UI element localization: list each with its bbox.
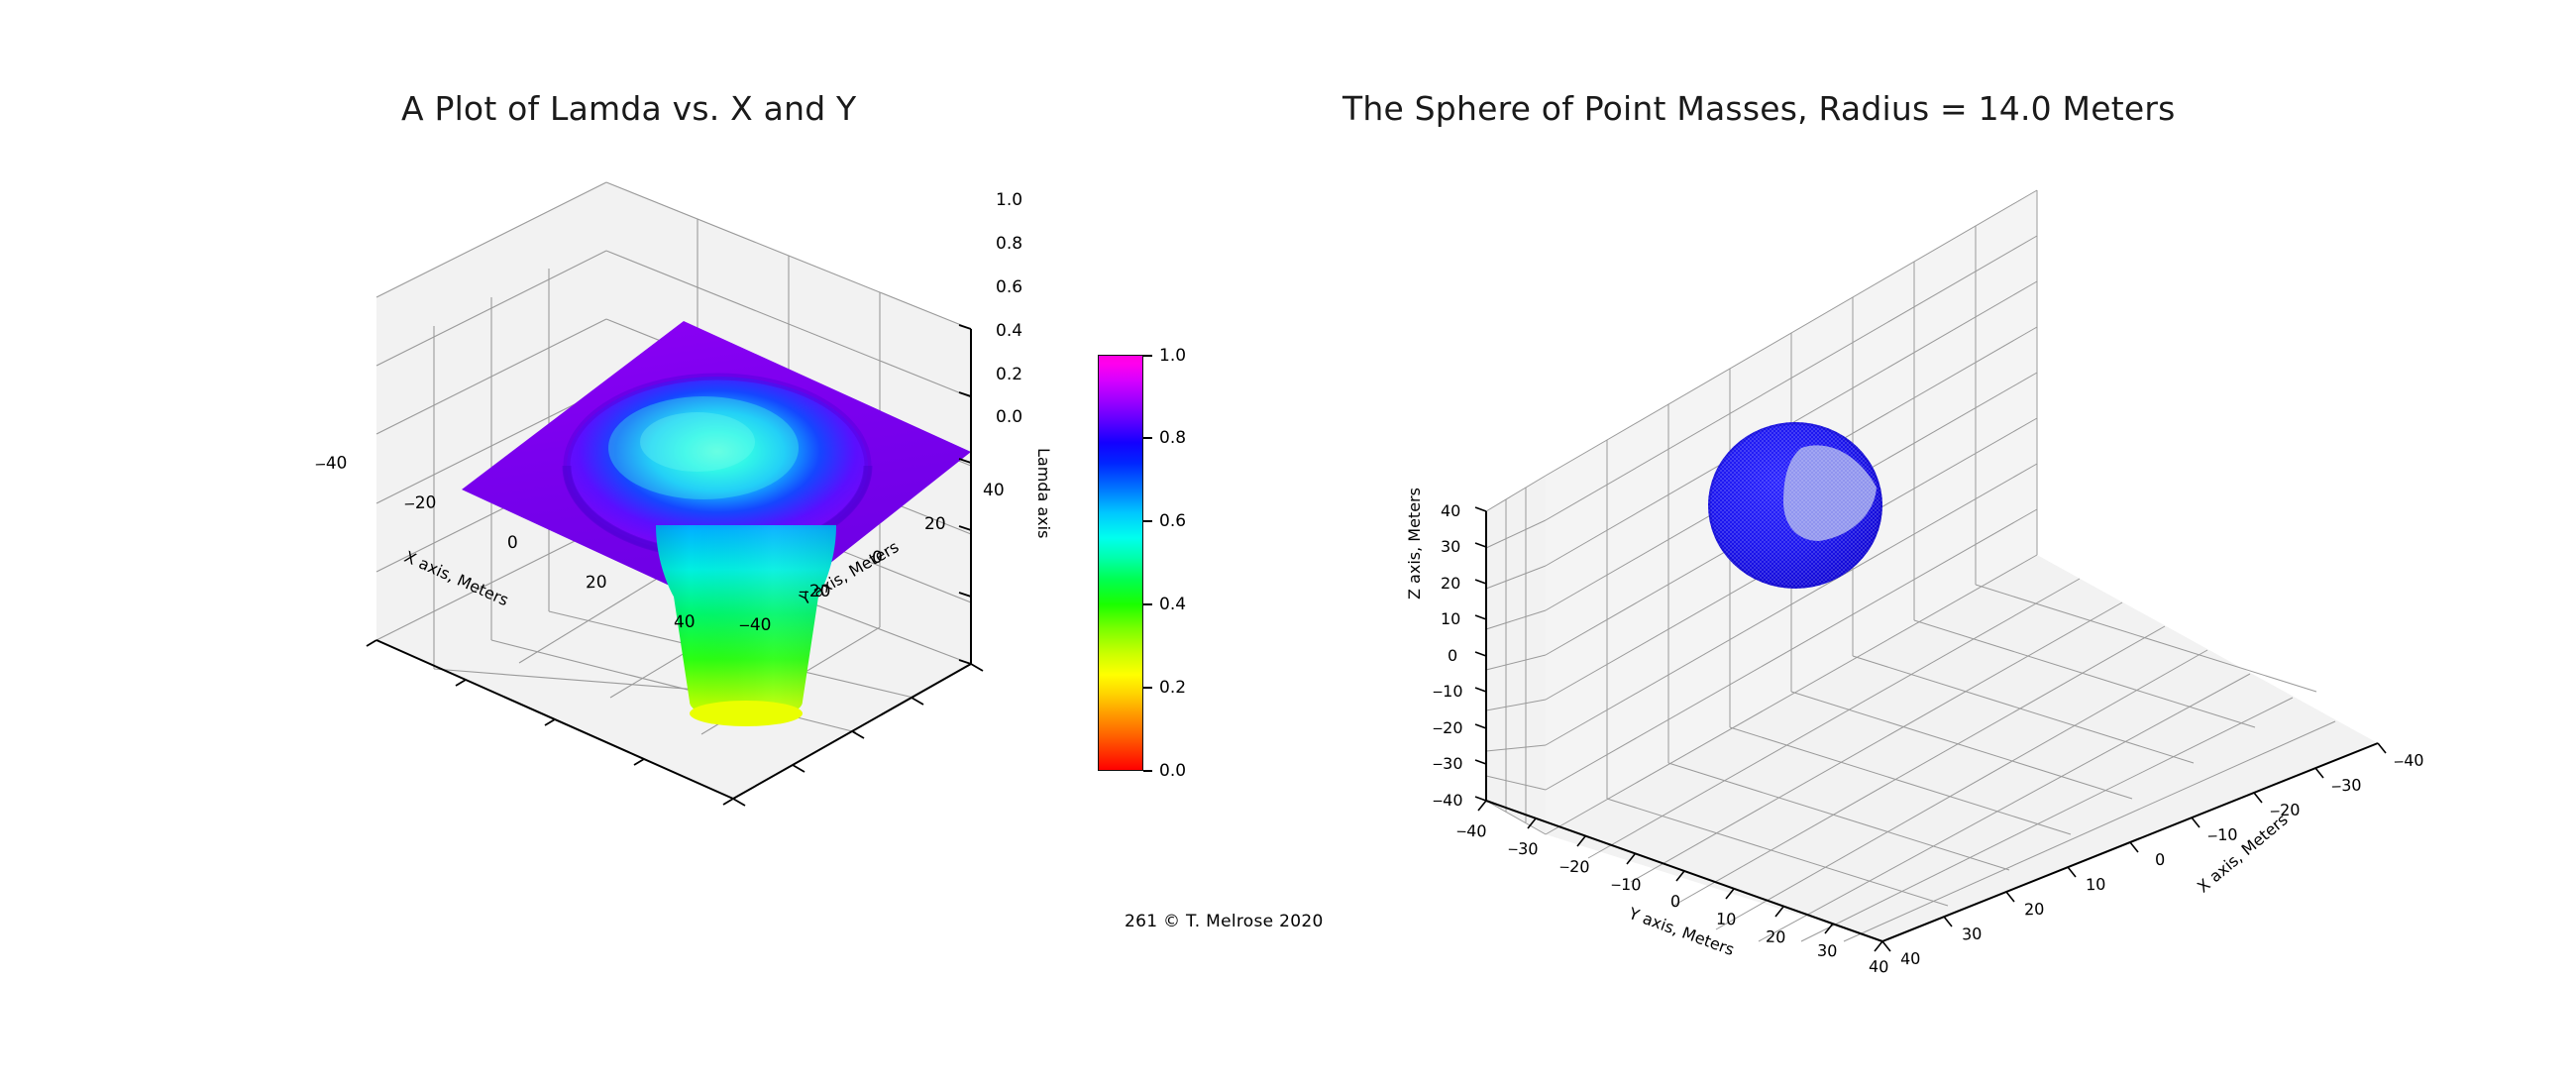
right-ztick-2: ‒20 <box>1433 718 1463 737</box>
right-ytick-0: ‒40 <box>1456 820 1487 840</box>
right-ytick-6: 20 <box>1766 927 1786 947</box>
colorbar-tick-0 <box>1143 770 1152 772</box>
footer-credit: 261 © T. Melrose 2020 <box>1125 912 1324 931</box>
right-xtick-8: ‒40 <box>2394 750 2424 770</box>
left-ztick-1: 0.2 <box>996 365 1022 384</box>
right-ztick-5: 10 <box>1441 609 1460 628</box>
right-xtick-5: ‒10 <box>2207 824 2238 844</box>
right-xtick-1: 30 <box>1962 925 1983 944</box>
left-ztick-4: 0.8 <box>996 234 1022 254</box>
right-ytick-5: 10 <box>1716 910 1737 929</box>
colorbar-label-1: 0.2 <box>1159 678 1186 698</box>
colorbar[interactable]: 0.0 0.2 0.4 0.6 0.8 1.0 <box>1098 355 1143 771</box>
left-ytick-3: 20 <box>924 514 946 534</box>
right-ytick-3: ‒10 <box>1611 874 1642 894</box>
right-xtick-2: 20 <box>2024 900 2045 920</box>
colorbar-tick-4 <box>1143 437 1152 439</box>
colorbar-gradient <box>1098 355 1143 771</box>
left-xtick-2: 0 <box>507 533 519 553</box>
left-ztick-2: 0.4 <box>996 321 1022 341</box>
left-xtick-4: 40 <box>674 612 696 633</box>
colorbar-label-3: 0.6 <box>1159 511 1186 531</box>
right-zaxis-label: Z axis, Meters <box>1405 488 1424 599</box>
left-3d-axes: ‒40 ‒20 0 20 40 X axis, Meters ‒40 ‒20 0… <box>376 198 1050 892</box>
left-xtick-3: 20 <box>586 573 607 594</box>
right-ytick-1: ‒30 <box>1508 838 1539 858</box>
right-ztick-4: 0 <box>1448 646 1457 665</box>
colorbar-label-0: 0.0 <box>1159 761 1186 781</box>
right-ytick-8: 40 <box>1869 957 1889 977</box>
left-ztick-0: 0.0 <box>996 407 1022 427</box>
right-plot-title: The Sphere of Point Masses, Radius = 14.… <box>1342 89 2176 128</box>
right-ztick-6: 20 <box>1441 574 1460 593</box>
left-xtick-1: ‒20 <box>404 492 437 513</box>
right-xtick-7: ‒30 <box>2331 775 2362 795</box>
colorbar-tick-3 <box>1143 520 1152 522</box>
left-zaxis-label: Lamda axis <box>1034 448 1053 538</box>
left-plot-title: A Plot of Lamda vs. X and Y <box>401 89 856 128</box>
colorbar-tick-2 <box>1143 603 1152 605</box>
right-ytick-2: ‒20 <box>1559 856 1590 876</box>
left-ztick-5: 1.0 <box>996 190 1022 210</box>
right-xtick-4: 0 <box>2155 850 2166 869</box>
colorbar-tick-1 <box>1143 687 1152 689</box>
right-ytick-7: 30 <box>1817 941 1838 961</box>
left-xtick-0: ‒40 <box>315 453 348 474</box>
right-ztick-1: ‒30 <box>1433 754 1463 773</box>
right-ztick-7: 30 <box>1441 537 1460 556</box>
left-ytick-4: 40 <box>983 481 1005 500</box>
left-ytick-0: ‒40 <box>739 615 771 635</box>
matplotlib-figure: A Plot of Lamda vs. X and Y The Sphere o… <box>0 0 2576 1090</box>
colorbar-label-4: 0.8 <box>1159 428 1186 448</box>
left-axes-canvas <box>376 198 1050 892</box>
right-xtick-0: 40 <box>1900 949 1921 969</box>
right-xtick-3: 10 <box>2086 875 2106 895</box>
right-ztick-3: ‒10 <box>1433 682 1463 701</box>
right-ztick-0: ‒40 <box>1433 791 1463 810</box>
colorbar-label-5: 1.0 <box>1159 346 1186 366</box>
left-ztick-3: 0.6 <box>996 277 1022 297</box>
right-left-wall-pane <box>1486 476 1546 834</box>
right-ytick-4: 0 <box>1670 892 1681 911</box>
colorbar-label-2: 0.4 <box>1159 595 1186 614</box>
right-ztick-8: 40 <box>1441 501 1460 520</box>
colorbar-tick-5 <box>1143 355 1152 357</box>
right-axes-canvas <box>1486 228 2378 941</box>
right-3d-axes: ‒40 ‒30 ‒20 ‒10 0 10 20 30 40 Z axis, Me… <box>1486 228 2378 941</box>
